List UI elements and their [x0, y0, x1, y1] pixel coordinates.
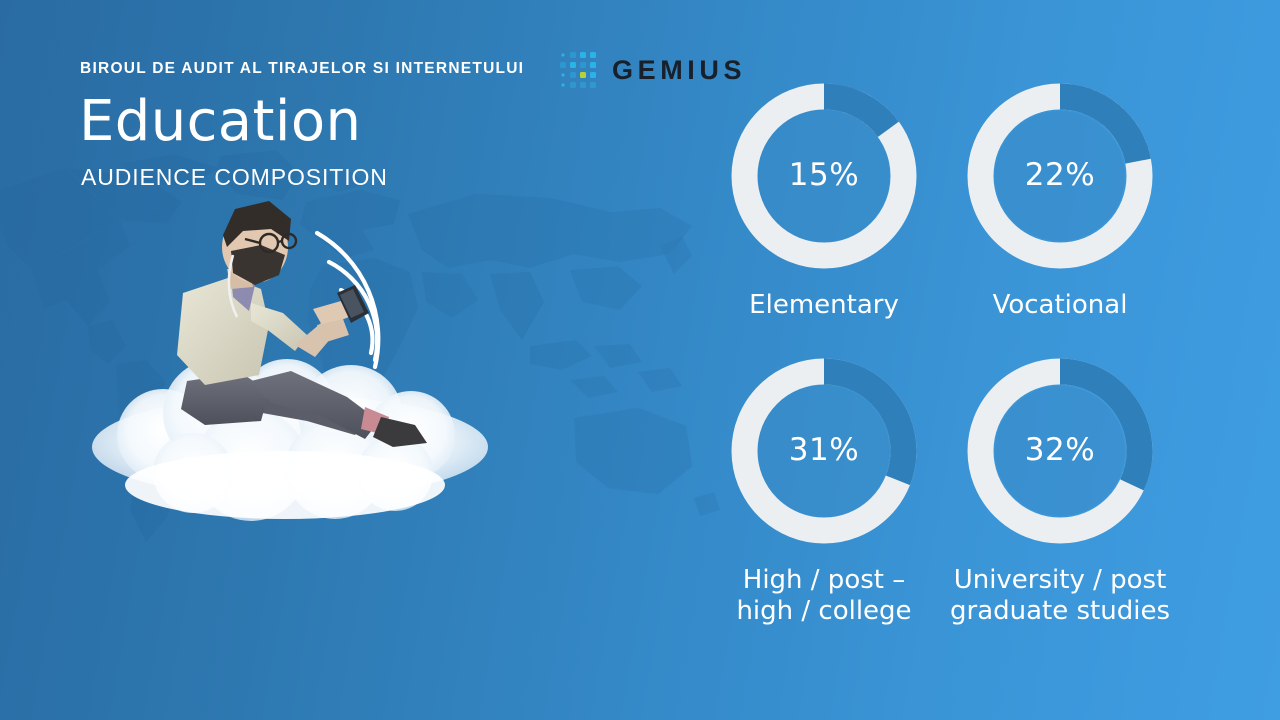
gemius-dot-matrix-icon: [560, 52, 596, 88]
organization-kicker: BIROUL DE AUDIT AL TIRAJELOR SI INTERNET…: [80, 60, 524, 78]
donut-chart-3: 32%: [962, 353, 1158, 549]
donut-label-0: Elementary: [704, 290, 944, 321]
man-on-cloud-illustration: [55, 185, 525, 530]
donut-value-3: 32%: [962, 353, 1158, 549]
donut-value-0: 15%: [726, 78, 922, 274]
donut-chart-grid: 15% Elementary 22% Vocational: [700, 78, 1200, 678]
donut-chart-1: 22%: [962, 78, 1158, 274]
infographic-slide: BIROUL DE AUDIT AL TIRAJELOR SI INTERNET…: [0, 0, 1280, 720]
page-title: Education: [79, 91, 361, 153]
donut-chart-2: 31%: [726, 353, 922, 549]
donut-label-2: High / post – high / college: [704, 565, 944, 627]
donut-value-1: 22%: [962, 78, 1158, 274]
chart-cell-university: 32% University / post graduate studies: [940, 353, 1180, 627]
donut-value-2: 31%: [726, 353, 922, 549]
donut-chart-0: 15%: [726, 78, 922, 274]
chart-cell-vocational: 22% Vocational: [940, 78, 1180, 321]
donut-label-3: University / post graduate studies: [940, 565, 1180, 627]
donut-label-1: Vocational: [940, 290, 1180, 321]
chart-cell-elementary: 15% Elementary: [704, 78, 944, 321]
chart-cell-high-school: 31% High / post – high / college: [704, 353, 944, 627]
